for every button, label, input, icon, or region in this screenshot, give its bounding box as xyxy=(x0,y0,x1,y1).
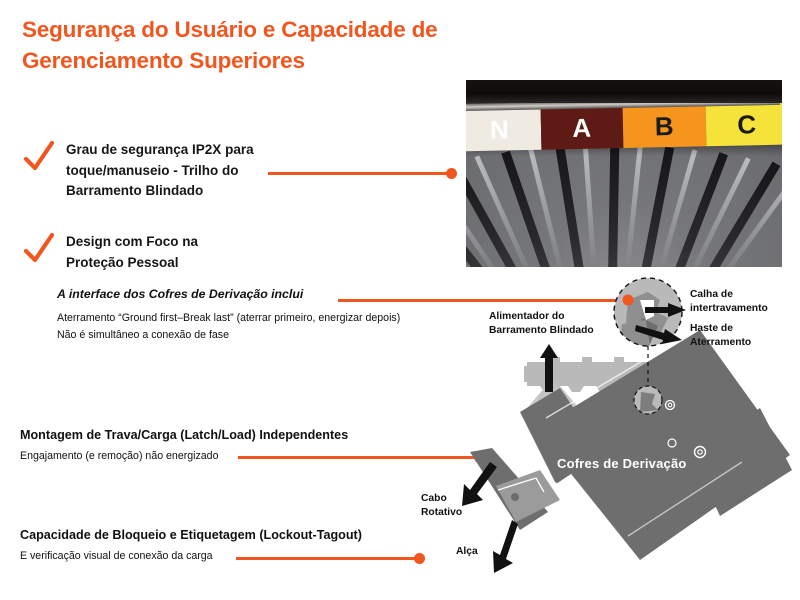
phase-label-a: A xyxy=(540,106,623,150)
check-icon xyxy=(22,140,56,174)
check-icon xyxy=(22,232,56,266)
label-alca: Alça xyxy=(456,545,516,559)
phase-letter: N xyxy=(490,114,509,145)
phase-label-c: C xyxy=(705,103,782,147)
photo-top-dark-band xyxy=(466,80,782,103)
arrow-to-calha xyxy=(645,303,686,317)
label-calha-intertravamento: Calha de intertravamento xyxy=(690,288,790,315)
phase-letter: B xyxy=(655,110,674,141)
phase-label-b: B xyxy=(623,104,706,148)
label-alimentador-barramento: Alimentador do Barramento Blindado xyxy=(489,310,609,337)
feature-1-title: Montagem de Trava/Carga (Latch/Load) Ind… xyxy=(20,426,420,444)
busbar-phase-labels-photo: N A B C xyxy=(466,80,782,267)
leader-line-lockout xyxy=(236,557,418,560)
leader-dot-lockout xyxy=(414,553,425,564)
leader-dot-latch xyxy=(474,452,485,463)
phase-letter: A xyxy=(572,112,591,143)
phase-label-n: N xyxy=(466,108,541,152)
feature-block-latch-load: Montagem de Trava/Carga (Latch/Load) Ind… xyxy=(20,426,420,465)
pointer-arrows xyxy=(462,303,686,573)
leader-dot-ip2x xyxy=(446,168,457,179)
slide-canvas: Segurança do Usuário e Capacidade de Ger… xyxy=(0,0,800,600)
plug-in-unit-body xyxy=(520,330,792,560)
page-title: Segurança do Usuário e Capacidade de Ger… xyxy=(22,14,492,76)
arrow-to-alimentador xyxy=(540,344,558,392)
label-haste-aterramento: Haste de Aterramento xyxy=(690,322,790,349)
interface-line-1: Aterramento “Ground first–Break last” (a… xyxy=(57,310,457,327)
checklist-item-2-label: Design com Foco na Proteção Pessoal xyxy=(66,232,198,273)
insertion-arrow xyxy=(527,378,579,452)
leader-line-latch xyxy=(238,456,478,459)
label-cofres-de-derivacao: Cofres de Derivação xyxy=(557,456,687,471)
housing-marker xyxy=(549,352,553,368)
interface-block: A interface dos Cofres de Derivação incl… xyxy=(57,286,457,344)
page-title-line-1: Segurança do Usuário e Capacidade de xyxy=(22,14,492,45)
arrow-to-haste xyxy=(635,325,682,344)
label-cabo-rotativo: Cabo Rotativo xyxy=(421,492,501,519)
checklist-item-1-label: Grau de segurança IP2X para toque/manuse… xyxy=(66,140,254,202)
leader-line-ip2x xyxy=(268,172,450,175)
page-title-line-2: Gerenciamento Superiores xyxy=(22,45,492,76)
detail-callout-upper xyxy=(614,278,682,392)
feature-2-title: Capacidade de Bloqueio e Etiquetagem (Lo… xyxy=(20,526,420,544)
interface-line-2: Não é simultâneo a conexão de fase xyxy=(57,327,457,344)
leader-dot-interface xyxy=(623,295,634,306)
detail-callout-lower xyxy=(634,386,662,414)
phase-letter: C xyxy=(737,109,756,140)
leader-line-interface xyxy=(338,299,628,302)
busway-housing-graphic xyxy=(524,357,649,392)
